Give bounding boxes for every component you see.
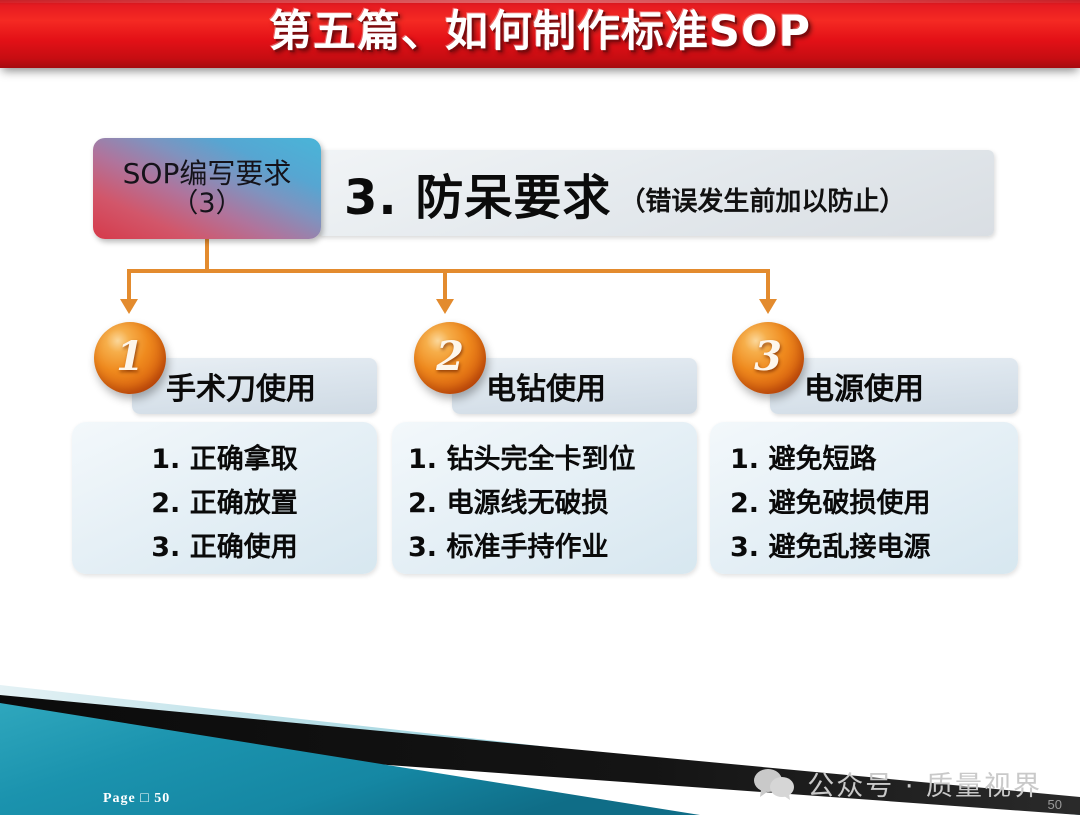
page-title: 第五篇、如何制作标准SOP: [0, 0, 1080, 68]
arrow-down-icon-2: [436, 299, 454, 314]
column-body-2: 1. 钻头完全卡到位 2. 电源线无破损 3. 标准手持作业: [392, 422, 697, 574]
watermark-text: 公众号 · 质量视界: [807, 764, 1042, 803]
column-header-1: 手术刀使用: [132, 358, 377, 414]
number-badge-1: 1: [94, 322, 166, 394]
column-body-1: 1. 正确拿取 2. 正确放置 3. 正确使用: [72, 422, 377, 574]
list-item: 3. 避免乱接电源: [710, 526, 1018, 570]
number-badge-label-2: 2: [436, 333, 464, 380]
column-title-1: 手术刀使用: [166, 364, 316, 408]
column-body-3: 1. 避免短路 2. 避免破损使用 3. 避免乱接电源: [710, 422, 1018, 574]
heading-main-text: 3. 防呆要求: [344, 158, 611, 228]
arrow-down-icon-1: [120, 299, 138, 314]
list-item: 1. 正确拿取: [72, 438, 377, 482]
column-title-3: 电源使用: [804, 364, 924, 408]
list-item: 1. 避免短路: [710, 438, 1018, 482]
sop-badge-line2: （3）: [171, 189, 242, 219]
connector-drop-3: [766, 269, 770, 301]
connector-drop-2: [443, 269, 447, 301]
page-label: Page □ 50: [103, 791, 170, 807]
number-badge-label-3: 3: [754, 333, 782, 380]
connector-drop-1: [127, 269, 131, 301]
wechat-icon: [753, 768, 795, 800]
slide-canvas: 第五篇、如何制作标准SOP 3. 防呆要求 （错误发生前加以防止） SOP编写要…: [0, 0, 1080, 815]
sop-requirement-badge: SOP编写要求 （3）: [93, 138, 321, 239]
heading-panel: 3. 防呆要求 （错误发生前加以防止）: [318, 150, 994, 236]
column-title-2: 电钻使用: [486, 364, 606, 408]
list-item: 3. 标准手持作业: [392, 526, 697, 570]
column-header-2: 电钻使用: [452, 358, 697, 414]
connector-stem: [205, 239, 209, 272]
connector-horizontal-bar: [127, 269, 770, 273]
column-header-3: 电源使用: [770, 358, 1018, 414]
number-badge-label-1: 1: [116, 333, 144, 380]
list-item: 1. 钻头完全卡到位: [392, 438, 697, 482]
list-item: 2. 正确放置: [72, 482, 377, 526]
number-badge-2: 2: [414, 322, 486, 394]
number-badge-3: 3: [732, 322, 804, 394]
heading-sub-text: （错误发生前加以防止）: [619, 181, 905, 218]
list-item: 2. 避免破损使用: [710, 482, 1018, 526]
list-item: 3. 正确使用: [72, 526, 377, 570]
watermark: 公众号 · 质量视界: [753, 764, 1042, 803]
page-number: 50: [1048, 797, 1062, 812]
sop-badge-line1: SOP编写要求: [123, 158, 292, 189]
list-item: 2. 电源线无破损: [392, 482, 697, 526]
arrow-down-icon-3: [759, 299, 777, 314]
